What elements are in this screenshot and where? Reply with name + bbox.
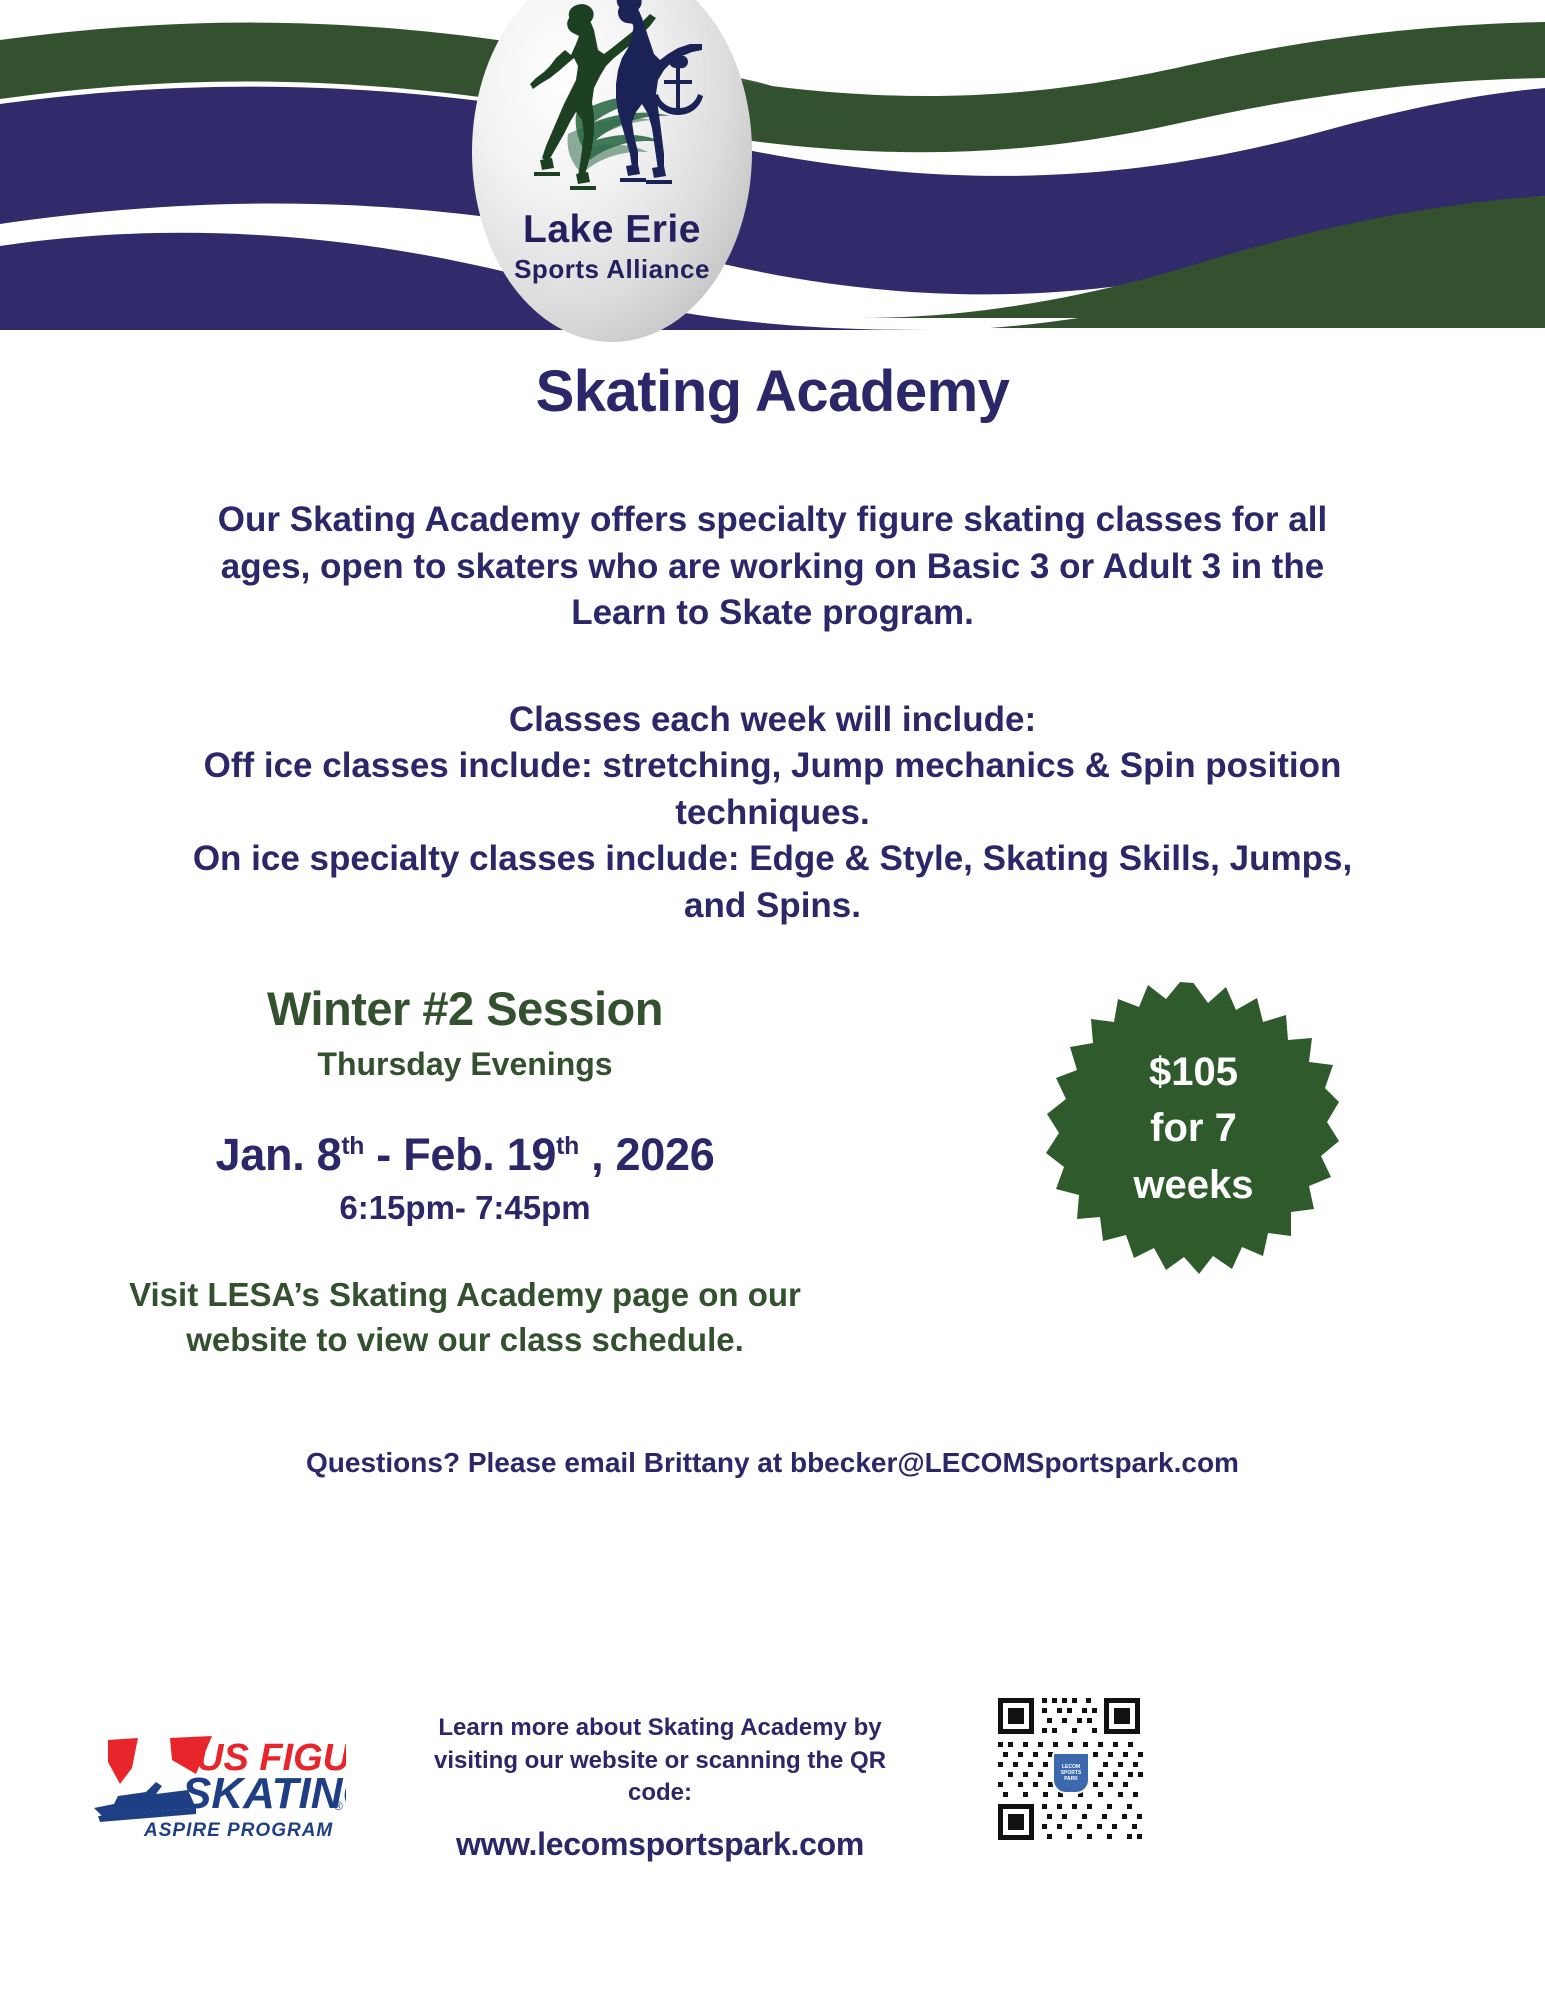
session-area: Winter #2 Session Thursday Evenings Jan.… <box>0 981 1545 1411</box>
session-details: Winter #2 Session Thursday Evenings Jan.… <box>0 981 930 1362</box>
us-figure-skating-aspire-logo: US FIGURE SKATING ® ASPIRE PROGRAM <box>84 1712 346 1842</box>
wave-graphic <box>0 0 1545 330</box>
price-duration-1: for 7 <box>1150 1100 1237 1157</box>
session-title: Winter #2 Session <box>0 981 930 1036</box>
footer-learn-more: Learn more about Skating Academy by visi… <box>400 1712 920 1863</box>
date-year: , 2026 <box>579 1129 715 1180</box>
classes-heading: Classes each week will include: <box>183 697 1363 744</box>
questions-contact-line[interactable]: Questions? Please email Brittany at bbec… <box>0 1447 1545 1479</box>
logo-artwork <box>472 0 752 342</box>
qr-code[interactable]: LECOM SPORTS PARK <box>990 1690 1148 1848</box>
header-wave-decoration <box>0 0 1545 330</box>
off-ice-classes-text: Off ice classes include: stretching, Jum… <box>183 743 1363 836</box>
visit-website-note: Visit LESA’s Skating Academy page on our… <box>70 1273 860 1362</box>
price-duration-2: weeks <box>1133 1157 1253 1214</box>
learn-more-text: Learn more about Skating Academy by visi… <box>400 1712 920 1810</box>
class-details-block: Classes each week will include: Off ice … <box>183 697 1363 930</box>
session-day: Thursday Evenings <box>0 1046 930 1083</box>
usfs-text-line2: SKATING <box>182 1769 346 1818</box>
lake-erie-sports-alliance-logo: Lake Erie Sports Alliance <box>472 0 752 342</box>
date-start-suffix: th <box>341 1133 364 1160</box>
page-title: Skating Academy <box>0 358 1545 425</box>
session-dates: Jan. 8th - Feb. 19th , 2026 <box>0 1129 930 1181</box>
date-separator: - <box>364 1129 403 1180</box>
intro-paragraph: Our Skating Academy offers specialty fig… <box>208 497 1338 637</box>
price-amount: $105 <box>1149 1044 1238 1101</box>
flyer-content: Skating Academy Our Skating Academy offe… <box>0 330 1545 1479</box>
logo-name-line2: Sports Alliance <box>472 254 752 285</box>
usfs-text-line3: ASPIRE PROGRAM <box>143 1820 333 1841</box>
price-badge: $105 for 7 weeks <box>1046 981 1341 1276</box>
usfs-logo-icon: US FIGURE SKATING ® ASPIRE PROGRAM <box>84 1712 346 1842</box>
session-time: 6:15pm- 7:45pm <box>0 1189 930 1227</box>
skaters-icon <box>472 0 752 212</box>
qr-center-lecom-logo: LECOM SPORTS PARK <box>1052 1752 1090 1794</box>
price-badge-text: $105 for 7 weeks <box>1046 981 1341 1276</box>
logo-name-line1: Lake Erie <box>472 208 752 252</box>
date-start: Jan. 8 <box>216 1129 342 1180</box>
on-ice-classes-text: On ice specialty classes include: Edge &… <box>183 836 1363 929</box>
qr-logo-line3: PARK <box>1064 1776 1078 1782</box>
date-end-suffix: th <box>556 1133 579 1160</box>
footer-row: US FIGURE SKATING ® ASPIRE PROGRAM Learn… <box>0 1690 1545 1940</box>
website-url[interactable]: www.lecomsportspark.com <box>400 1826 920 1863</box>
date-end: Feb. 19 <box>403 1129 556 1180</box>
svg-text:®: ® <box>334 1799 343 1813</box>
